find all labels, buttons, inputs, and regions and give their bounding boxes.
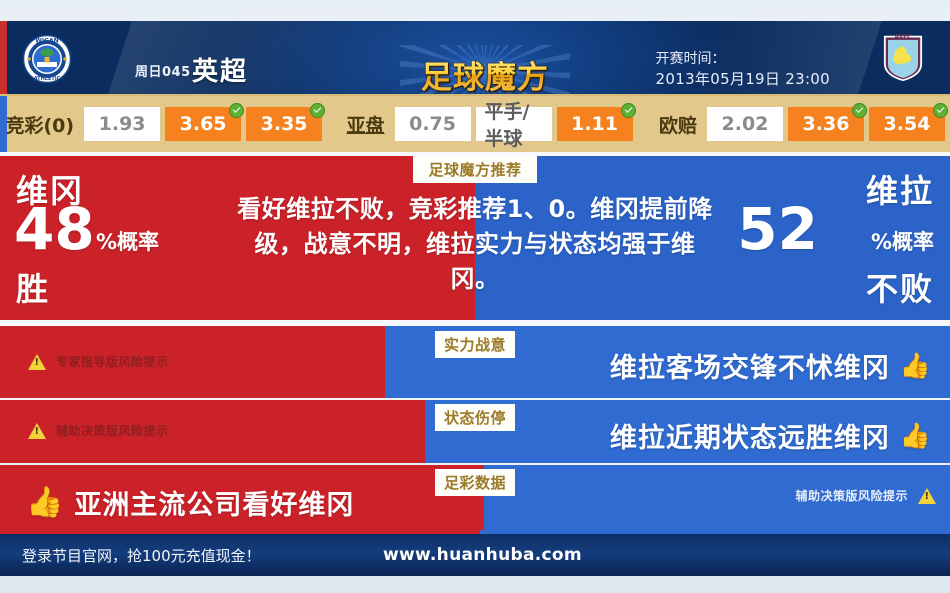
thumbs-up-icon: 👍: [26, 488, 64, 518]
risk-notice: 辅助决策版风险提示: [795, 487, 936, 504]
kickoff-time: 2013年05月19日 23:00: [656, 69, 830, 89]
risk-notice-text: 辅助决策版风险提示: [795, 487, 908, 504]
odds-group-jingcai: 竞彩(0) 1.93 3.65 3.35: [5, 107, 327, 141]
check-icon: [229, 103, 244, 118]
odds-cell[interactable]: 2.02: [707, 107, 783, 141]
warning-icon: [918, 488, 936, 504]
insight-text: 维拉近期状态远胜维冈: [610, 416, 890, 455]
home-probability-value: 48: [14, 200, 95, 258]
odds-group-label: 竞彩(0): [5, 111, 74, 138]
odds-value: 3.54: [884, 113, 931, 135]
odds-cell[interactable]: 0.75: [395, 107, 471, 141]
broadcast-graphic: WIGAN ATHLETIC 周日045 英超 足球魔方 开赛时间： 2013年…: [0, 0, 950, 593]
odds-cell[interactable]: 1.93: [84, 107, 160, 141]
odds-cell[interactable]: 3.54: [869, 107, 945, 141]
away-team-name: 维拉: [866, 166, 934, 212]
check-icon: [621, 103, 636, 118]
away-team-crest-icon: AVFC: [878, 33, 928, 83]
kickoff-label: 开赛时间：: [656, 49, 830, 69]
match-header: WIGAN ATHLETIC 周日045 英超 足球魔方 开赛时间： 2013年…: [0, 21, 950, 94]
thumbs-up-icon: 👍: [900, 423, 932, 448]
risk-notice-panel: 辅助决策版风险提示: [0, 400, 425, 463]
insight-statement: 维拉近期状态远胜维冈 👍: [610, 416, 932, 455]
check-icon: [852, 103, 867, 118]
home-probability-suffix: %概率: [96, 226, 159, 256]
risk-notice: 辅助决策版风险提示: [28, 422, 169, 439]
insight-text: 维拉客场交锋不怵维冈: [610, 346, 890, 385]
league-name: 英超: [192, 51, 248, 88]
odds-bar: 竞彩(0) 1.93 3.65 3.35 亚盘 0.75 平手/半球 1.11 …: [0, 94, 950, 152]
promo-text: 登录节目官网，抢100元充值现金！: [22, 545, 261, 566]
odds-value: 3.65: [180, 113, 227, 135]
risk-notice-panel: 辅助决策版风险提示: [484, 465, 950, 534]
risk-notice-panel: 专家指导版风险提示: [0, 326, 385, 398]
odds-cell[interactable]: 3.35: [246, 107, 322, 141]
odds-handicap-cell[interactable]: 平手/半球: [476, 107, 552, 141]
match-number: 周日045: [135, 61, 191, 80]
away-outcome-label: 不败: [866, 264, 934, 310]
odds-group-label: 亚盘: [347, 111, 385, 138]
home-outcome-label: 胜: [16, 264, 50, 310]
kickoff-info: 开赛时间： 2013年05月19日 23:00: [656, 49, 830, 89]
recommendation-text: 看好维拉不败，竞彩推荐1、0。维冈提前降级，战意不明，维拉实力与状态均强于维冈。: [232, 192, 718, 297]
site-url[interactable]: www.huanhuba.com: [383, 545, 582, 565]
odds-value: 3.36: [803, 113, 850, 135]
odds-group-euro: 欧赔 2.02 3.36 3.54: [659, 107, 950, 141]
section-tab-strength: 实力战意: [435, 331, 515, 358]
brand-logo: 足球魔方: [400, 45, 570, 94]
svg-text:WIGAN: WIGAN: [35, 38, 58, 45]
risk-notice: 专家指导版风险提示: [28, 353, 169, 370]
warning-icon: [28, 423, 46, 439]
odds-value: 1.11: [571, 113, 618, 135]
odds-group-asian: 亚盘 0.75 平手/半球 1.11: [347, 107, 638, 141]
thumbs-up-icon: 👍: [900, 353, 932, 378]
svg-text:ATHLETIC: ATHLETIC: [34, 76, 61, 82]
svg-text:AVFC: AVFC: [894, 34, 911, 40]
brand-logo-text: 足球魔方: [400, 45, 570, 94]
warning-icon: [28, 354, 46, 370]
risk-notice-text: 专家指导版风险提示: [56, 353, 169, 370]
insight-panel: 👍 亚洲主流公司看好维冈: [0, 465, 484, 534]
section-tab-data: 足彩数据: [435, 469, 515, 496]
odds-cell[interactable]: 1.11: [557, 107, 633, 141]
odds-group-label: 欧赔: [659, 111, 697, 138]
recommendation-tab: 足球魔方推荐: [413, 156, 537, 183]
section-tab-form: 状态伤停: [435, 404, 515, 431]
away-probability-value: 52: [737, 200, 818, 258]
footer-bar: 登录节目官网，抢100元充值现金！ www.huanhuba.com: [0, 534, 950, 576]
check-icon: [933, 103, 948, 118]
insight-statement: 维拉客场交锋不怵维冈 👍: [610, 346, 932, 385]
odds-cell[interactable]: 3.65: [165, 107, 241, 141]
home-team-crest-icon: WIGAN ATHLETIC: [22, 34, 72, 84]
insight-text: 亚洲主流公司看好维冈: [74, 483, 354, 522]
odds-value: 3.35: [261, 113, 308, 135]
away-probability-suffix: %概率: [871, 226, 934, 256]
check-icon: [310, 103, 325, 118]
insight-statement: 👍 亚洲主流公司看好维冈: [26, 483, 354, 522]
risk-notice-text: 辅助决策版风险提示: [56, 422, 169, 439]
odds-cell[interactable]: 3.36: [788, 107, 864, 141]
